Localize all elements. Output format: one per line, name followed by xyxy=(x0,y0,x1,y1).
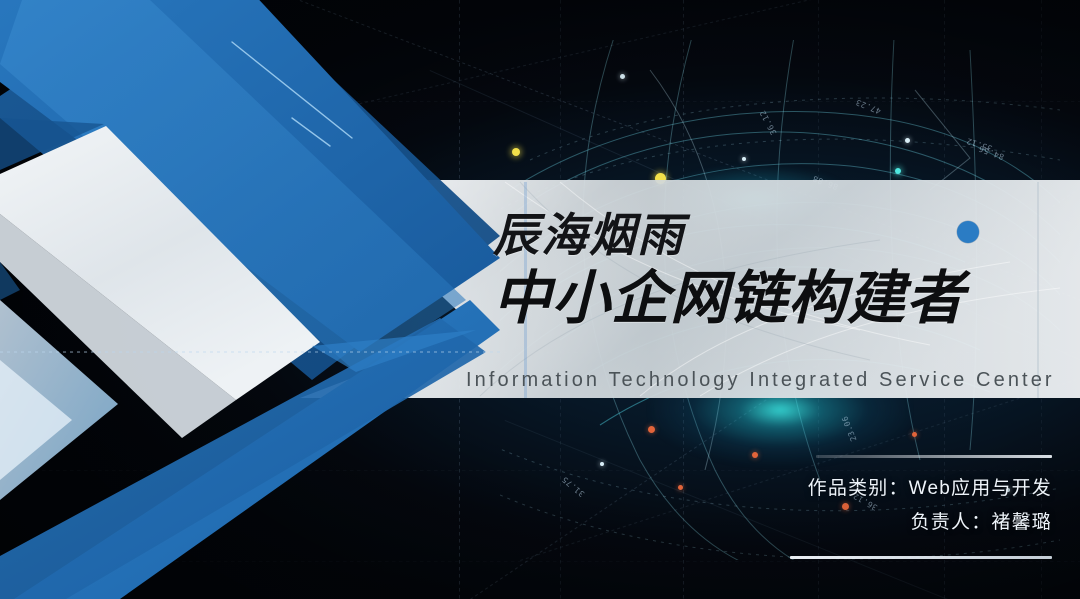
english-subtitle: Information Technology Integrated Servic… xyxy=(466,367,1046,393)
divider-top xyxy=(816,455,1052,458)
blue-chevron-arrow xyxy=(0,0,500,599)
meta-block: 作品类别：Web应用与开发 负责人：褚馨璐 xyxy=(722,455,1052,559)
work-owner: 负责人：褚馨璐 xyxy=(722,506,1052,540)
title-line-2: 中小企网链构建者 xyxy=(493,262,1053,336)
work-category: 作品类别：Web应用与开发 xyxy=(722,472,1052,506)
presentation-slide: 36.12 86.88 47.23 23.06 35.12 84.56 36.1… xyxy=(0,0,1080,599)
blue-dot-marker xyxy=(957,221,979,243)
divider-bottom xyxy=(790,556,1052,559)
